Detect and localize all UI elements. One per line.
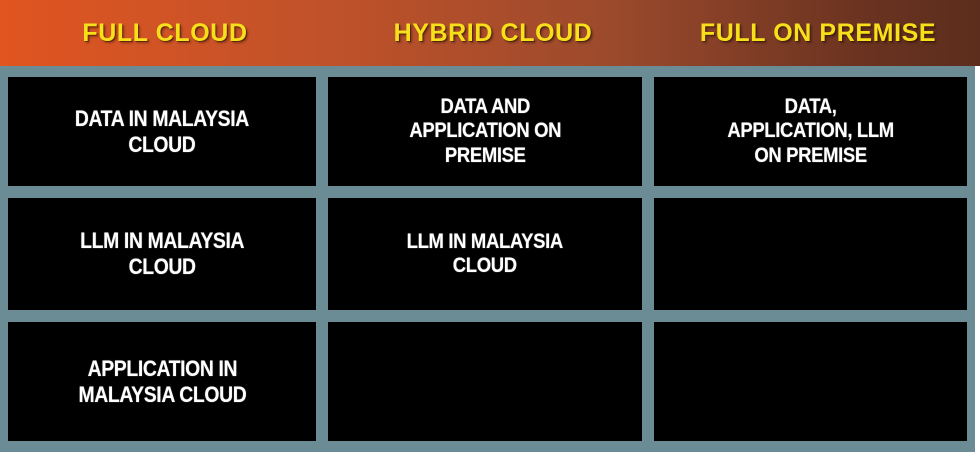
header-label-full-cloud: FULL CLOUD bbox=[82, 19, 247, 48]
table-cell: DATA IN MALAYSIA CLOUD bbox=[0, 66, 322, 192]
comparison-table: DATA IN MALAYSIA CLOUD DATA AND APPLICAT… bbox=[0, 66, 975, 452]
cell-text: DATA, APPLICATION, LLM ON PREMISE bbox=[727, 95, 893, 168]
header-column-hybrid-cloud: HYBRID CLOUD bbox=[330, 0, 656, 66]
cell-text: DATA IN MALAYSIA CLOUD bbox=[75, 106, 249, 157]
header-label-full-on-premise: FULL ON PREMISE bbox=[700, 19, 936, 48]
cell-text: APPLICATION IN MALAYSIA CLOUD bbox=[78, 356, 246, 407]
table-cell: DATA AND APPLICATION ON PREMISE bbox=[322, 66, 648, 192]
table-cell: APPLICATION IN MALAYSIA CLOUD bbox=[0, 316, 322, 452]
header-label-hybrid-cloud: HYBRID CLOUD bbox=[394, 19, 593, 48]
table-cell: LLM IN MALAYSIA CLOUD bbox=[0, 192, 322, 316]
cell-text: DATA AND APPLICATION ON PREMISE bbox=[409, 95, 561, 168]
table-cell bbox=[322, 316, 648, 452]
cell-text: LLM IN MALAYSIA CLOUD bbox=[407, 230, 563, 279]
table-cell: LLM IN MALAYSIA CLOUD bbox=[322, 192, 648, 316]
deployment-comparison-infographic: FULL CLOUD HYBRID CLOUD FULL ON PREMISE … bbox=[0, 0, 980, 452]
header-band: FULL CLOUD HYBRID CLOUD FULL ON PREMISE bbox=[0, 0, 980, 66]
cell-text: LLM IN MALAYSIA CLOUD bbox=[80, 228, 244, 279]
table-cell: DATA, APPLICATION, LLM ON PREMISE bbox=[648, 66, 975, 192]
header-column-full-on-premise: FULL ON PREMISE bbox=[656, 0, 980, 66]
table-cell bbox=[648, 316, 975, 452]
table-cell bbox=[648, 192, 975, 316]
header-column-full-cloud: FULL CLOUD bbox=[0, 0, 330, 66]
